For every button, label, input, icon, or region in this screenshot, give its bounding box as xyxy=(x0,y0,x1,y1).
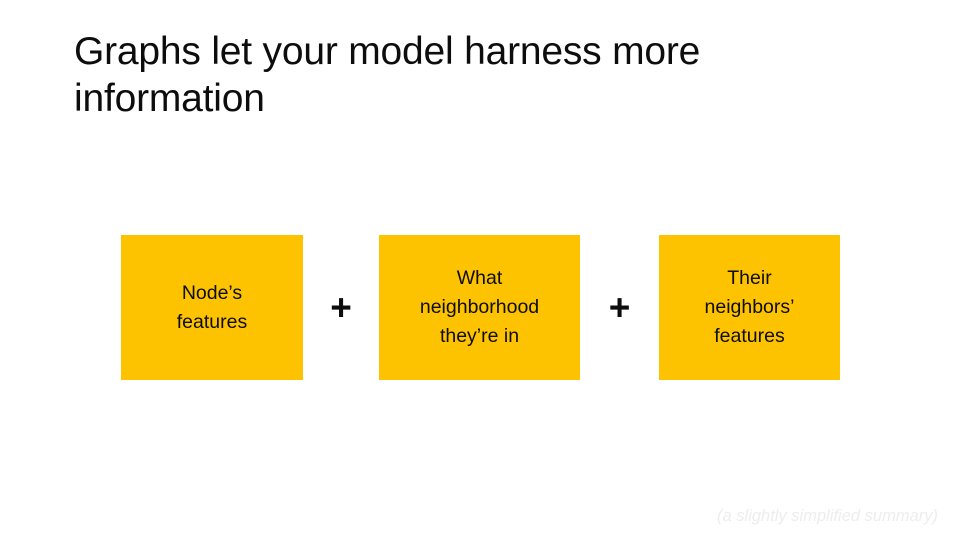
concept-box-node-features: Node’s features xyxy=(121,235,303,380)
concept-box-neighborhood: What neighborhood they’re in xyxy=(379,235,580,380)
slide-canvas: Graphs let your model harness more infor… xyxy=(0,0,960,540)
concept-box-label: Node’s features xyxy=(177,279,247,337)
plus-operator-icon-1: + xyxy=(303,235,379,380)
concept-formula-row: Node’s features + What neighborhood they… xyxy=(0,235,960,380)
concept-box-label: Their neighbors’ features xyxy=(705,264,795,351)
concept-box-neighbors-features: Their neighbors’ features xyxy=(659,235,840,380)
page-title: Graphs let your model harness more infor… xyxy=(74,28,884,122)
footnote-disclaimer: (a slightly simplified summary) xyxy=(717,505,938,527)
concept-box-label: What neighborhood they’re in xyxy=(420,264,539,351)
plus-operator-icon-2: + xyxy=(580,235,659,380)
